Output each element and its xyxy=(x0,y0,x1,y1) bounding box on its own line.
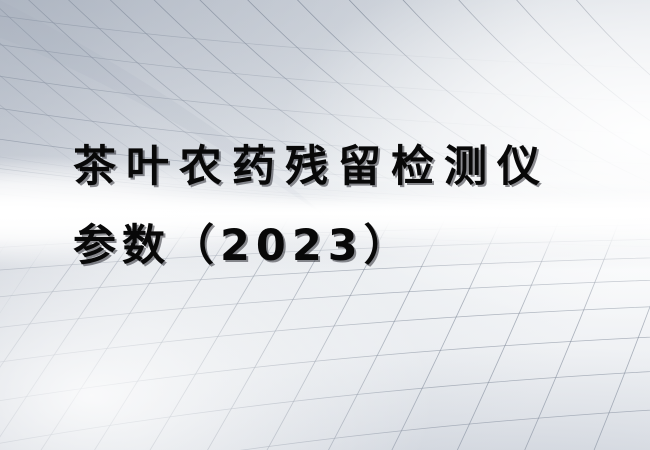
title-line-2: 参数（2023） xyxy=(73,207,613,286)
title-line-1: 茶叶农药残留检测仪 xyxy=(73,128,613,207)
title-banner: 茶叶农药残留检测仪 参数（2023） xyxy=(0,0,650,450)
page-title: 茶叶农药残留检测仪 参数（2023） xyxy=(73,128,613,286)
